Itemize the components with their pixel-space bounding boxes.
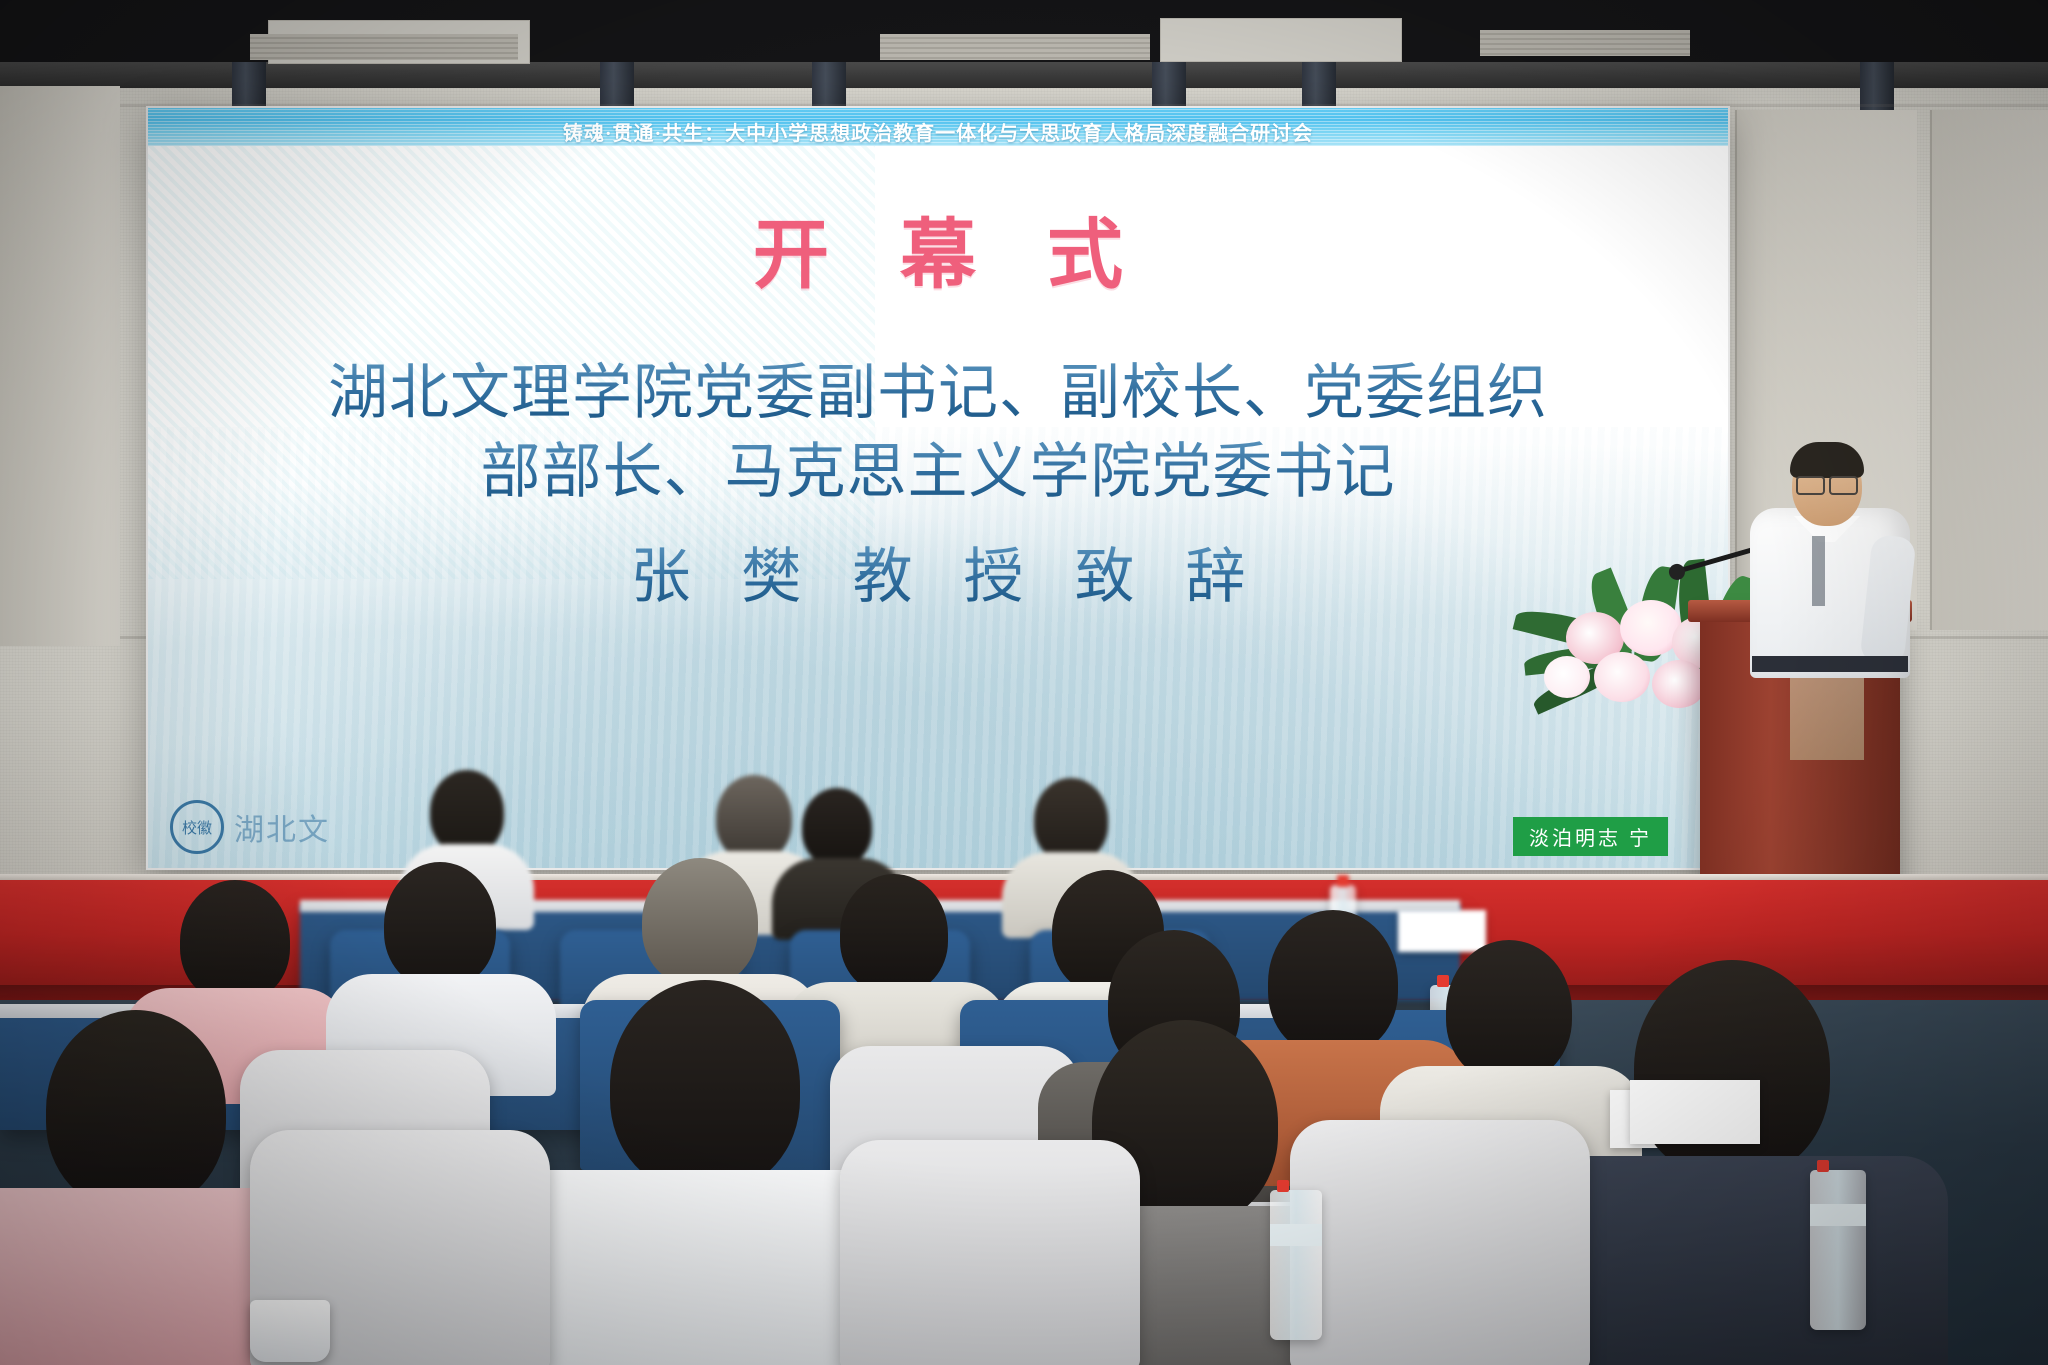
speaker-shirt-placket (1812, 536, 1825, 606)
conference-title-banner: 铸魂·贯通·共生：大中小学思想政治教育一体化与大思政育人格局深度融合研讨会 (563, 124, 1313, 146)
audience-person-6 (340, 862, 540, 1082)
name-card-3 (1630, 1080, 1760, 1144)
slide-surface: 铸魂·贯通·共生：大中小学思想政治教育一体化与大思政育人格局深度融合研讨会 开 … (148, 108, 1728, 868)
person-head (384, 862, 496, 988)
person-head (610, 980, 800, 1192)
conference-hall-photo: 铸魂·贯通·共生：大中小学思想政治教育一体化与大思政育人格局深度融合研讨会 开 … (0, 0, 2048, 1365)
ceiling-panel-2 (1160, 18, 1402, 62)
slide-content: 开 幕 式 湖北文理学院党委副书记、副校长、党委组织 部部长、马克思主义学院党委… (148, 146, 1728, 868)
speaker-belt (1752, 656, 1908, 672)
speaker-hair (1790, 442, 1864, 478)
side-wall-panel (1930, 110, 2048, 630)
university-emblem-icon: 校徽 (170, 800, 224, 854)
slide-title: 开 幕 式 (727, 218, 1149, 294)
left-pillar (0, 86, 120, 646)
air-vent-center (880, 34, 1150, 60)
slide-body-line-1: 湖北文理学院党委副书记、副校长、党委组织 (328, 354, 1548, 433)
person-head (430, 770, 504, 854)
person-head (180, 880, 290, 1002)
air-vent-left (250, 34, 518, 60)
slide-footer-logo: 校徽 湖北文 (170, 800, 330, 854)
chair-r4-3 (1290, 1120, 1590, 1365)
water-bottle-6 (1810, 1170, 1866, 1330)
chair-r4-2 (840, 1140, 1140, 1365)
person-head (1634, 960, 1830, 1178)
slide-body-line-2: 部部长、马克思主义学院党委书记 (481, 433, 1396, 512)
person-head (1034, 778, 1108, 862)
projection-screen: 铸魂·贯通·共生：大中小学思想政治教育一体化与大思政育人格局深度融合研讨会 开 … (148, 108, 1728, 868)
person-head (642, 858, 758, 986)
person-head (802, 788, 872, 866)
slide-header-ribbon: 铸魂·贯通·共生：大中小学思想政治教育一体化与大思政育人格局深度融合研讨会 (148, 108, 1728, 146)
audience-person-14 (540, 980, 870, 1365)
person-head (840, 874, 948, 994)
slide-body-line-3: 张 樊 教 授 致 辞 (613, 538, 1264, 617)
university-name-text: 湖北文 (234, 805, 330, 849)
water-bottle-5 (1270, 1190, 1322, 1340)
wall-seam-upper (0, 104, 2048, 107)
tea-cup (250, 1300, 330, 1362)
air-vent-right (1480, 30, 1690, 56)
eyeglasses-icon (1796, 476, 1858, 491)
person-head (46, 1010, 226, 1210)
slide-motto-tag: 淡泊明志 宁 (1513, 817, 1668, 856)
person-head (1446, 940, 1572, 1082)
ceiling-beam (0, 62, 2048, 88)
speaker-person (1740, 440, 1915, 670)
